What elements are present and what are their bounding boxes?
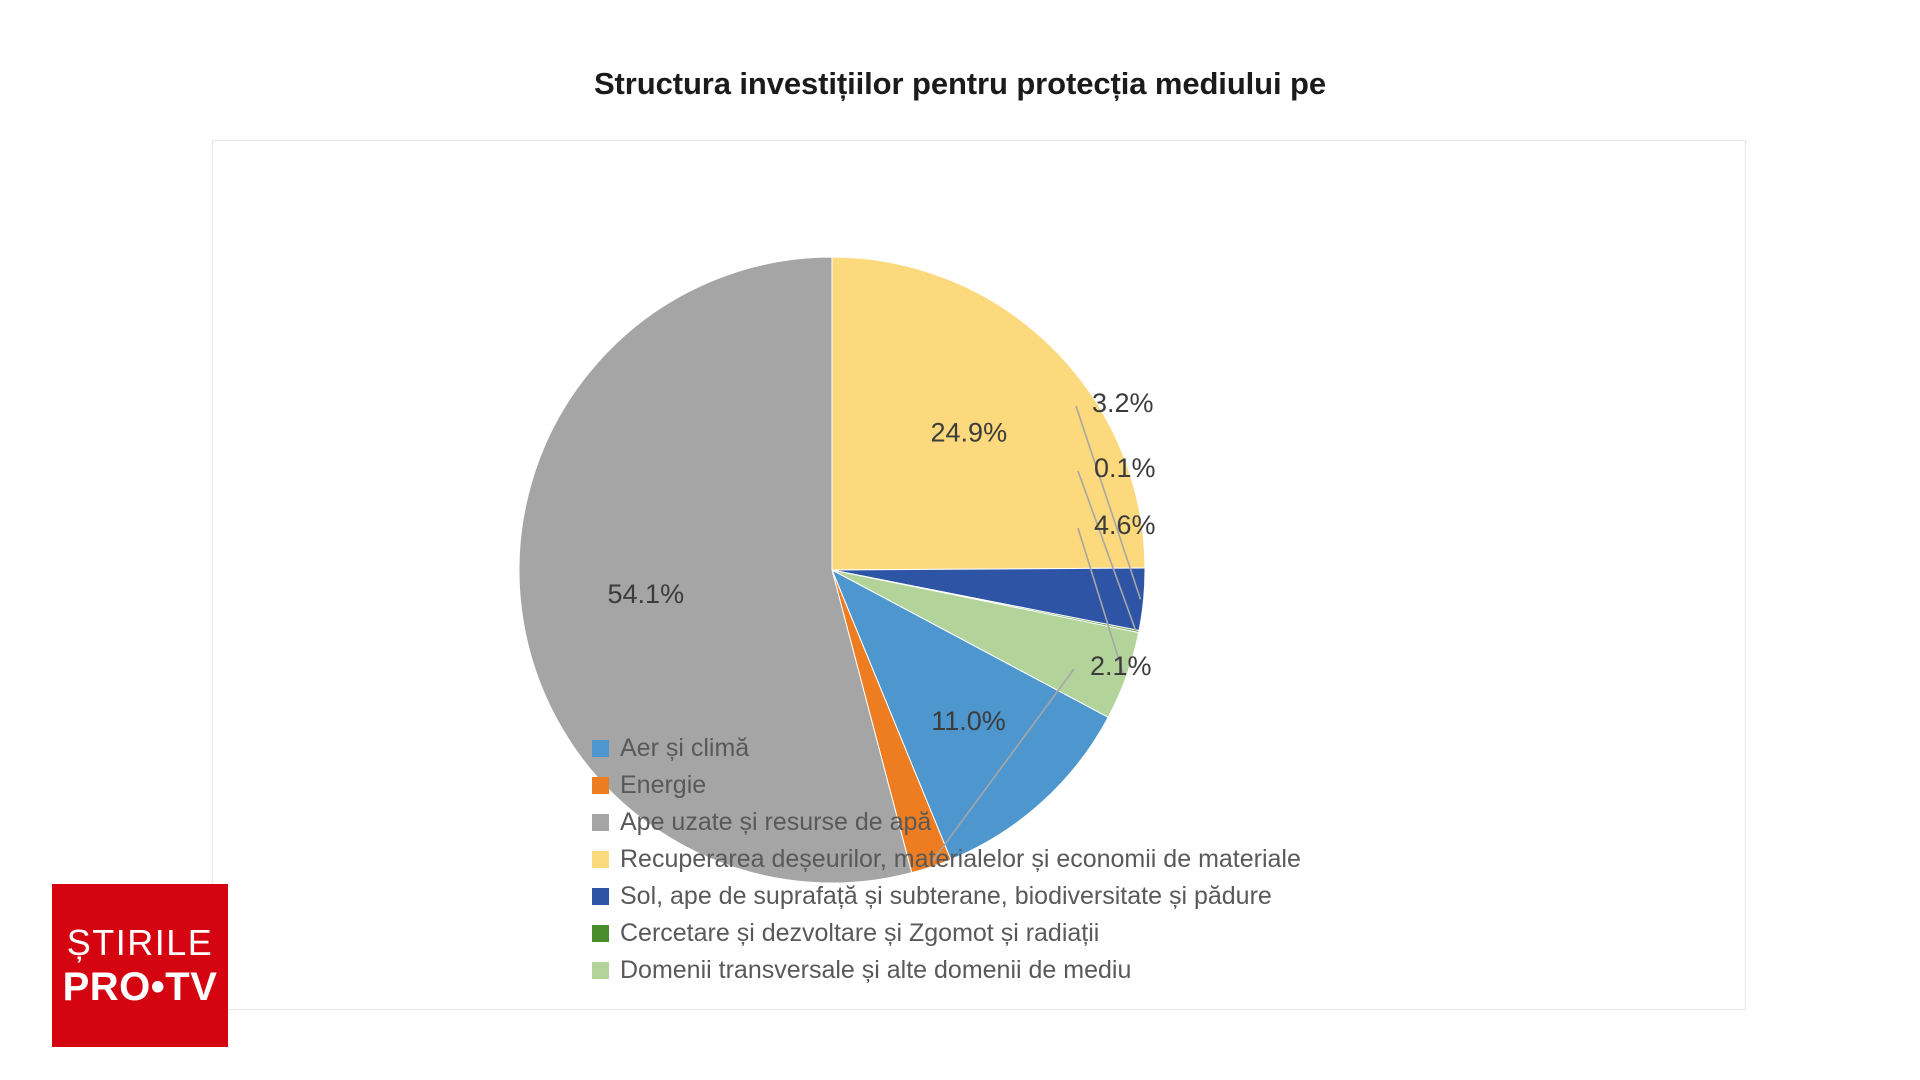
- legend-label: Domenii transversale și alte domenii de …: [620, 958, 1131, 983]
- legend-item[interactable]: Domenii transversale și alte domenii de …: [592, 952, 1301, 989]
- legend-swatch-icon: [592, 925, 609, 942]
- legend-item[interactable]: Aer și climă: [592, 730, 1301, 767]
- pie-value-label: 3.2%: [1092, 388, 1154, 418]
- legend-label: Sol, ape de suprafață și subterane, biod…: [620, 884, 1272, 909]
- protv-logo-line-2: PRO•TV: [63, 964, 218, 1010]
- chart-title-line-1: Structura investițiilor pentru protecția…: [0, 63, 1920, 104]
- legend-label: Aer și climă: [620, 736, 749, 761]
- legend-swatch-icon: [592, 888, 609, 905]
- pie-value-label: 24.9%: [931, 417, 1008, 447]
- legend-item[interactable]: Recuperarea deșeurilor, materialelor și …: [592, 841, 1301, 878]
- legend-item[interactable]: Energie: [592, 767, 1301, 804]
- legend-swatch-icon: [592, 814, 609, 831]
- legend-swatch-icon: [592, 777, 609, 794]
- legend-label: Recuperarea deșeurilor, materialelor și …: [620, 847, 1301, 872]
- legend-swatch-icon: [592, 962, 609, 979]
- pie-value-label: 54.1%: [608, 579, 685, 609]
- protv-logo-line-1: ȘTIRILE: [67, 922, 214, 964]
- pie-value-label: 0.1%: [1094, 453, 1156, 483]
- pie-value-label: 2.1%: [1090, 651, 1152, 681]
- legend-item[interactable]: Sol, ape de suprafață și subterane, biod…: [592, 878, 1301, 915]
- legend-item[interactable]: Ape uzate și resurse de apă: [592, 804, 1301, 841]
- chart-legend: Aer și climăEnergieApe uzate și resurse …: [592, 730, 1301, 989]
- pie-value-label: 4.6%: [1094, 510, 1156, 540]
- legend-label: Ape uzate și resurse de apă: [620, 810, 931, 835]
- legend-swatch-icon: [592, 851, 609, 868]
- legend-item[interactable]: Cercetare și dezvoltare și Zgomot și rad…: [592, 915, 1301, 952]
- legend-swatch-icon: [592, 740, 609, 757]
- legend-label: Energie: [620, 773, 706, 798]
- legend-label: Cercetare și dezvoltare și Zgomot și rad…: [620, 921, 1099, 946]
- protv-logo: ȘTIRILE PRO•TV: [52, 884, 228, 1047]
